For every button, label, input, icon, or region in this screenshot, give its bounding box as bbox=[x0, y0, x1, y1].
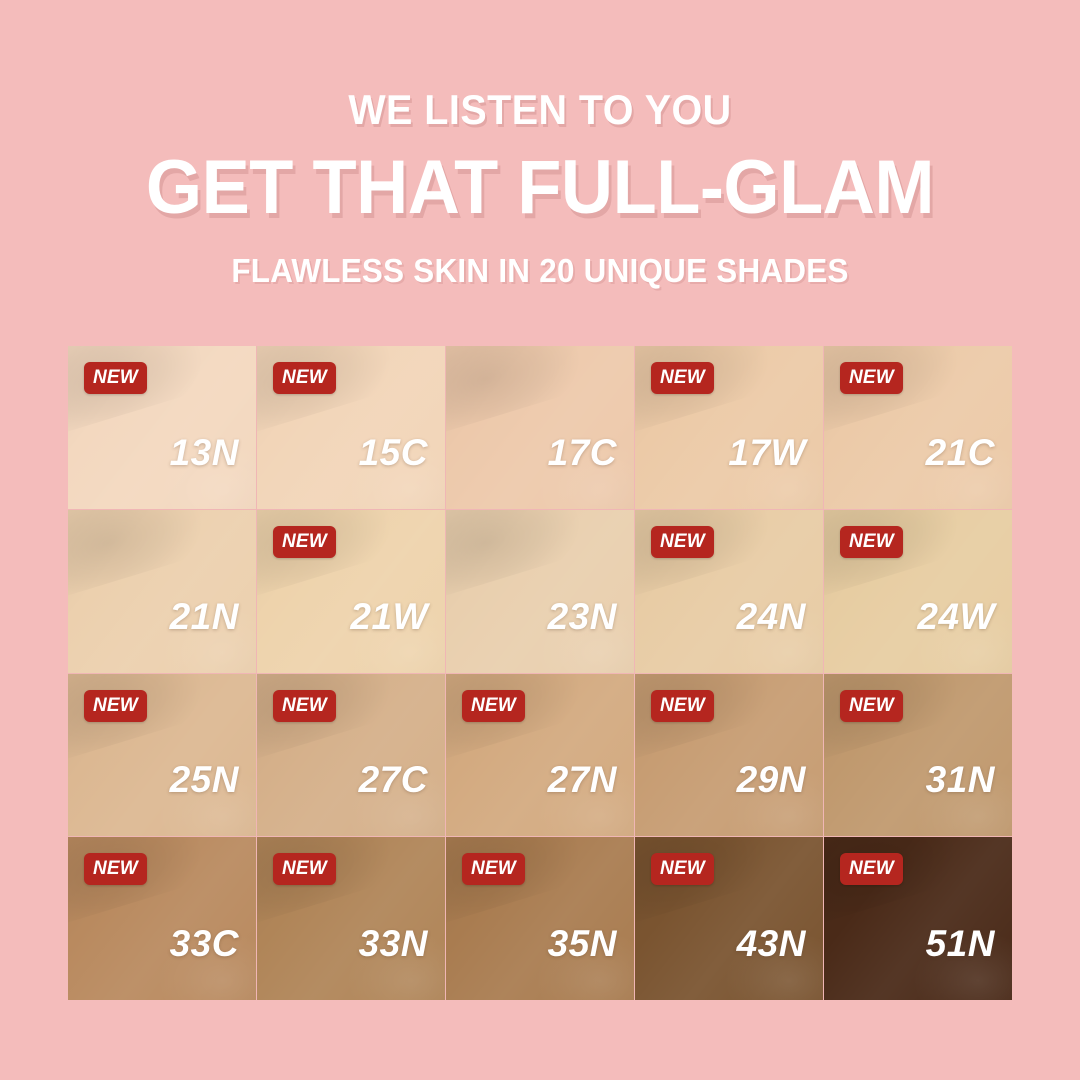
new-badge: NEW bbox=[651, 690, 714, 722]
shade-swatch[interactable]: 17C bbox=[446, 346, 634, 509]
headline-subtitle: FLAWLESS SKIN IN 20 UNIQUE SHADES bbox=[27, 252, 1053, 290]
new-badge: NEW bbox=[840, 853, 903, 885]
shade-swatch[interactable]: NEW21W bbox=[257, 510, 445, 673]
shade-swatch[interactable]: NEW33C bbox=[68, 837, 256, 1000]
shade-swatch[interactable]: NEW21C bbox=[824, 346, 1012, 509]
shade-range-promo-page: WE LISTEN TO YOU GET THAT FULL-GLAM FLAW… bbox=[0, 0, 1080, 1080]
shade-code-label: 13N bbox=[170, 433, 239, 473]
shade-swatch[interactable]: NEW43N bbox=[635, 837, 823, 1000]
shade-code-label: 15C bbox=[359, 433, 428, 473]
shade-code-label: 51N bbox=[926, 924, 995, 964]
shade-swatch[interactable]: 21N bbox=[68, 510, 256, 673]
shade-code-label: 17C bbox=[548, 433, 617, 473]
new-badge: NEW bbox=[462, 853, 525, 885]
shade-swatch[interactable]: NEW17W bbox=[635, 346, 823, 509]
new-badge: NEW bbox=[651, 526, 714, 558]
shade-swatch[interactable]: NEW24N bbox=[635, 510, 823, 673]
swatch-shadow-overlay bbox=[446, 346, 630, 441]
shade-code-label: 29N bbox=[737, 760, 806, 800]
shade-code-label: 24N bbox=[737, 597, 806, 637]
new-badge: NEW bbox=[840, 690, 903, 722]
new-badge: NEW bbox=[84, 690, 147, 722]
shade-code-label: 31N bbox=[926, 760, 995, 800]
new-badge: NEW bbox=[273, 526, 336, 558]
shade-swatch[interactable]: NEW33N bbox=[257, 837, 445, 1000]
new-badge: NEW bbox=[462, 690, 525, 722]
shade-swatch[interactable]: NEW29N bbox=[635, 674, 823, 837]
shade-code-label: 35N bbox=[548, 924, 617, 964]
shade-code-label: 43N bbox=[737, 924, 806, 964]
shade-swatch-grid: NEW13NNEW15C17CNEW17WNEW21C21NNEW21W23NN… bbox=[68, 346, 1012, 1000]
shade-swatch[interactable]: NEW24W bbox=[824, 510, 1012, 673]
shade-code-label: 23N bbox=[548, 597, 617, 637]
shade-swatch[interactable]: NEW15C bbox=[257, 346, 445, 509]
new-badge: NEW bbox=[84, 362, 147, 394]
shade-code-label: 21C bbox=[926, 433, 995, 473]
headline-main: GET THAT FULL-GLAM bbox=[27, 146, 1053, 230]
swatch-sheen-overlay bbox=[446, 510, 634, 673]
shade-swatch[interactable]: NEW35N bbox=[446, 837, 634, 1000]
swatch-sheen-overlay bbox=[446, 346, 634, 509]
headline-eyebrow: WE LISTEN TO YOU bbox=[32, 86, 1047, 134]
shade-code-label: 21W bbox=[350, 597, 428, 637]
new-badge: NEW bbox=[273, 690, 336, 722]
swatch-shadow-overlay bbox=[446, 510, 630, 605]
new-badge: NEW bbox=[84, 853, 147, 885]
shade-code-label: 27C bbox=[359, 760, 428, 800]
shade-swatch[interactable]: NEW13N bbox=[68, 346, 256, 509]
headline-block: WE LISTEN TO YOU GET THAT FULL-GLAM FLAW… bbox=[0, 86, 1080, 290]
shade-code-label: 17W bbox=[728, 433, 806, 473]
new-badge: NEW bbox=[273, 362, 336, 394]
new-badge: NEW bbox=[273, 853, 336, 885]
shade-swatch[interactable]: NEW51N bbox=[824, 837, 1012, 1000]
new-badge: NEW bbox=[651, 362, 714, 394]
shade-swatch[interactable]: NEW31N bbox=[824, 674, 1012, 837]
shade-code-label: 33N bbox=[359, 924, 428, 964]
shade-code-label: 24W bbox=[917, 597, 995, 637]
shade-code-label: 27N bbox=[548, 760, 617, 800]
shade-swatch[interactable]: NEW27C bbox=[257, 674, 445, 837]
shade-code-label: 25N bbox=[170, 760, 239, 800]
new-badge: NEW bbox=[840, 362, 903, 394]
shade-swatch[interactable]: NEW25N bbox=[68, 674, 256, 837]
swatch-sheen-overlay bbox=[68, 510, 256, 673]
new-badge: NEW bbox=[840, 526, 903, 558]
new-badge: NEW bbox=[651, 853, 714, 885]
shade-code-label: 21N bbox=[170, 597, 239, 637]
shade-code-label: 33C bbox=[170, 924, 239, 964]
shade-swatch[interactable]: 23N bbox=[446, 510, 634, 673]
swatch-shadow-overlay bbox=[68, 510, 252, 605]
shade-swatch[interactable]: NEW27N bbox=[446, 674, 634, 837]
